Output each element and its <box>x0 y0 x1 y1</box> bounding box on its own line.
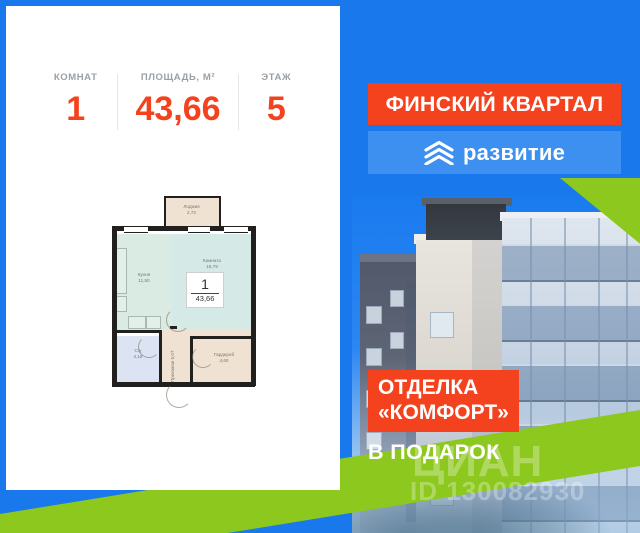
stat-rooms-value: 1 <box>66 92 85 126</box>
wall <box>164 196 221 198</box>
room-label-wardrobe: Гардероб 4,60 <box>198 352 250 363</box>
building-penthouse <box>426 204 506 240</box>
offer-highlight: ОТДЕЛКА «КОМФОРТ» <box>368 370 519 432</box>
wall-exterior-right <box>251 226 256 386</box>
window-opening <box>124 226 148 233</box>
wall-exterior-left <box>112 226 117 386</box>
badge-area: 43,66 <box>196 295 215 303</box>
balcony-row <box>502 304 640 342</box>
window <box>366 348 382 366</box>
kitchen-counter <box>128 316 146 329</box>
offer-block: ОТДЕЛКА «КОМФОРТ» В ПОДАРОК <box>368 370 574 465</box>
room-label-living: Комната 15,79 <box>180 258 244 269</box>
room-label-bathroom: С/у 4,18 <box>116 348 160 359</box>
brand-title-bar: ФИНСКИЙ КВАРТАЛ <box>368 83 621 125</box>
room-label-hallway: Прихожая 5,07 <box>170 350 176 382</box>
room-name: Комната <box>203 258 221 263</box>
room-area: 2,72 <box>164 210 219 216</box>
stat-rooms: КОМНАТ 1 <box>34 72 117 126</box>
brand-block: ФИНСКИЙ КВАРТАЛ развитие <box>368 83 621 174</box>
kitchen-counter <box>116 248 127 294</box>
brand-subtitle: развитие <box>463 140 565 166</box>
kitchen-counter <box>146 316 161 329</box>
floorplan: Лоджия 2,72 Кухня 11,50 Комната 15,79 С/… <box>104 196 269 391</box>
kitchen-counter <box>116 296 127 312</box>
room-hallway <box>161 330 193 386</box>
chevron-up-stack-icon <box>424 141 454 165</box>
offer-line-2: «КОМФОРТ» <box>378 400 509 425</box>
stat-area-value: 43,66 <box>135 92 220 126</box>
room-area: 4,18 <box>116 354 160 360</box>
room-area: 5,07 <box>170 350 175 359</box>
offer-gift-text: В ПОДАРОК <box>368 440 574 465</box>
stat-area: ПЛОЩАДЬ, М² 43,66 <box>118 72 237 126</box>
wall-interior <box>112 330 162 333</box>
window <box>390 332 404 349</box>
room-name: Гардероб <box>214 352 234 357</box>
wall-interior <box>190 336 254 339</box>
window-opening <box>224 226 248 233</box>
stat-floor-value: 5 <box>267 92 286 126</box>
room-area: 15,79 <box>180 264 244 270</box>
brand-title: ФИНСКИЙ КВАРТАЛ <box>386 92 604 117</box>
window <box>390 290 404 307</box>
room-label-loggia: Лоджия 2,72 <box>164 204 219 215</box>
wall <box>219 196 221 228</box>
room-name: Лоджия <box>183 204 199 209</box>
offer-line-1: ОТДЕЛКА <box>378 375 509 400</box>
room-label-kitchen: Кухня 11,50 <box>120 272 168 283</box>
room-name: Кухня <box>138 272 150 277</box>
door-arc-entry <box>166 382 192 408</box>
room-name: С/у <box>135 348 142 353</box>
stat-area-label: ПЛОЩАДЬ, М² <box>141 72 215 83</box>
window <box>430 312 454 338</box>
stat-floor-label: ЭТАЖ <box>261 72 291 83</box>
window-opening <box>188 226 210 233</box>
door-arc <box>166 308 190 332</box>
badge-rooms: 1 <box>201 277 209 291</box>
plan-summary-badge: 1 43,66 <box>186 272 224 308</box>
stat-rooms-label: КОМНАТ <box>54 72 98 83</box>
window <box>366 306 382 324</box>
room-area: 4,60 <box>198 358 250 364</box>
stat-floor: ЭТАЖ 5 <box>239 72 314 126</box>
room-area: 11,50 <box>120 278 168 284</box>
apartment-plan-card: КОМНАТ 1 ПЛОЩАДЬ, М² 43,66 ЭТАЖ 5 <box>6 6 340 490</box>
balcony-row <box>502 244 640 282</box>
room-name: Прихожая <box>170 361 175 382</box>
apartment-stats: КОМНАТ 1 ПЛОЩАДЬ, М² 43,66 ЭТАЖ 5 <box>34 72 314 138</box>
brand-subtitle-bar: развитие <box>368 131 621 174</box>
